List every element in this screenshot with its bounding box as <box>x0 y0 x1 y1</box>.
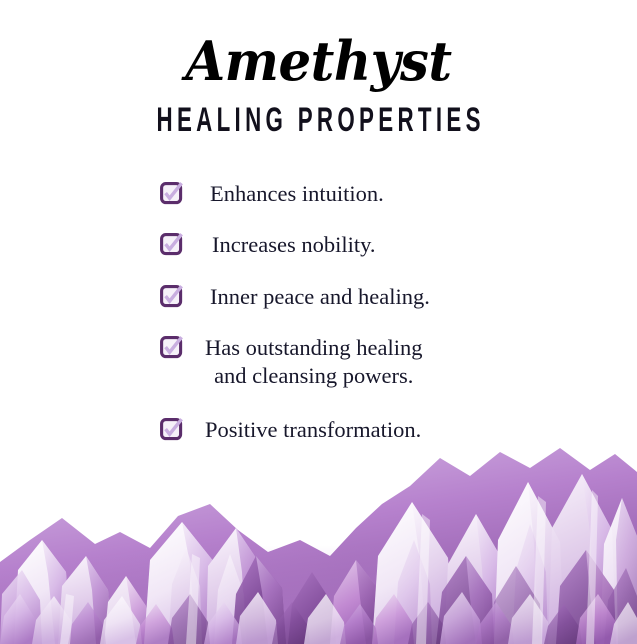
amethyst-crystal-cluster-image <box>0 444 637 644</box>
checkbox-checked-icon[interactable] <box>160 181 184 205</box>
page-subtitle: HEALING PROPERTIES <box>89 102 548 137</box>
checkbox-checked-icon[interactable] <box>160 335 184 359</box>
list-item[interactable]: Enhances intuition. <box>0 180 637 207</box>
poster-canvas: Amethyst HEALING PROPERTIES Enhances int… <box>0 0 637 644</box>
checkbox-checked-icon[interactable] <box>160 284 184 308</box>
list-item-label: Inner peace and healing. <box>210 283 430 310</box>
header: Amethyst HEALING PROPERTIES <box>0 0 637 133</box>
list-item-label: Increases nobility. <box>212 231 376 258</box>
properties-list: Enhances intuition. Increases nobility. … <box>0 180 637 444</box>
list-item[interactable]: Increases nobility. <box>0 231 637 258</box>
list-item[interactable]: Positive transformation. <box>0 416 637 443</box>
page-title: Amethyst <box>16 34 621 88</box>
list-item[interactable]: Has outstanding healing and cleansing po… <box>0 334 637 389</box>
checkbox-checked-icon[interactable] <box>160 417 184 441</box>
checkbox-checked-icon[interactable] <box>160 232 184 256</box>
list-item-label: Has outstanding healing and cleansing po… <box>205 334 422 389</box>
list-item-label: Enhances intuition. <box>210 180 384 207</box>
list-item[interactable]: Inner peace and healing. <box>0 283 637 310</box>
list-item-label: Positive transformation. <box>205 416 421 443</box>
